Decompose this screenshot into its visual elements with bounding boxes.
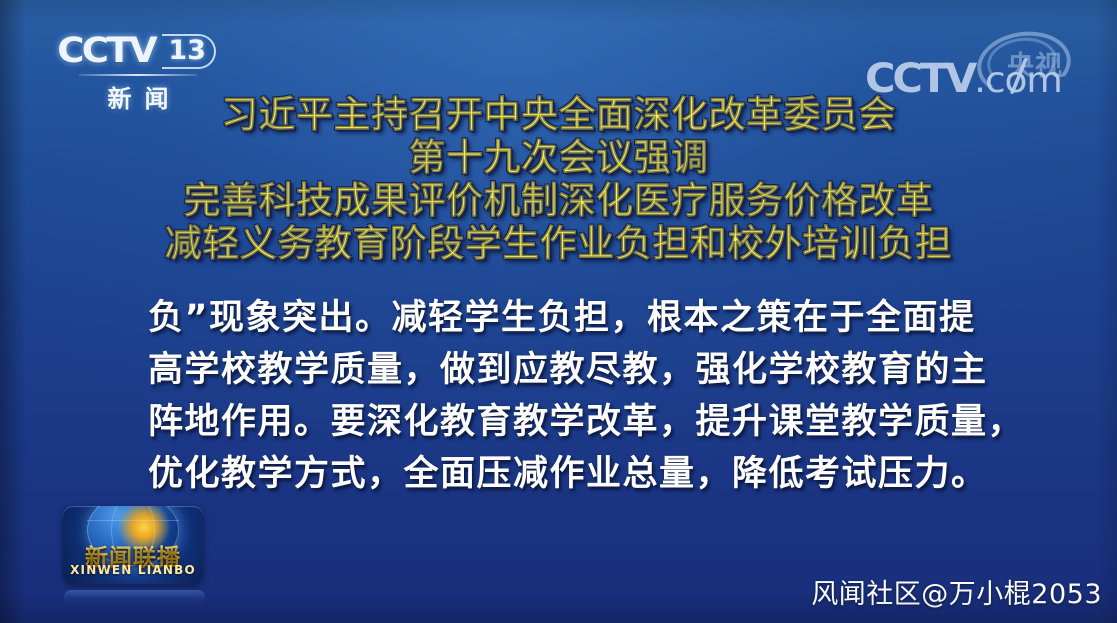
program-title-pinyin: XINWEN LIANBO: [63, 563, 203, 577]
globe-equator-icon: [87, 520, 179, 521]
body-copy-block: 负”现象突出。减轻学生负担，根本之策在于全面提 高学校教学质量，做到应教尽教，强…: [148, 292, 998, 500]
cctv13-divider: [79, 74, 197, 76]
user-watermark: 风闻社区@万小棍2053: [811, 572, 1102, 611]
cctv-wordmark: CCTV: [57, 34, 155, 69]
cctv13-logo-row: CCTV 13: [62, 30, 214, 72]
lower-third-bar: [64, 590, 205, 604]
body-line-2: 高学校教学质量，做到应教尽教，强化学校教育的主: [148, 344, 998, 396]
headline-line-2: 第十九次会议强调: [0, 136, 1117, 179]
body-line-4: 优化教学方式，全面压减作业总量，降低考试压力。: [148, 448, 998, 500]
channel-number: 13: [162, 34, 216, 69]
xinwen-lianbo-logo: 新闻联播 XINWEN LIANBO: [63, 506, 203, 584]
cctvcom-watermark: 央视 CCTV.com: [865, 36, 1105, 100]
body-line-1: 负”现象突出。减轻学生负担，根本之策在于全面提: [148, 292, 998, 344]
headline-block: 习近平主持召开中央全面深化改革委员会 第十九次会议强调 完善科技成果评价机制深化…: [0, 93, 1117, 265]
headline-line-3: 完善科技成果评价机制深化医疗服务价格改革: [0, 179, 1117, 222]
body-line-3: 阵地作用。要深化教育教学改革，提升课堂教学质量，: [148, 396, 998, 448]
headline-line-1: 习近平主持召开中央全面深化改革委员会: [0, 93, 1117, 136]
broadcast-frame: CCTV 13 新闻 央视 CCTV.com 习近平主持召开中央全面深化改革委员…: [0, 0, 1117, 623]
headline-line-4: 减轻义务教育阶段学生作业负担和校外培训负担: [0, 222, 1117, 265]
